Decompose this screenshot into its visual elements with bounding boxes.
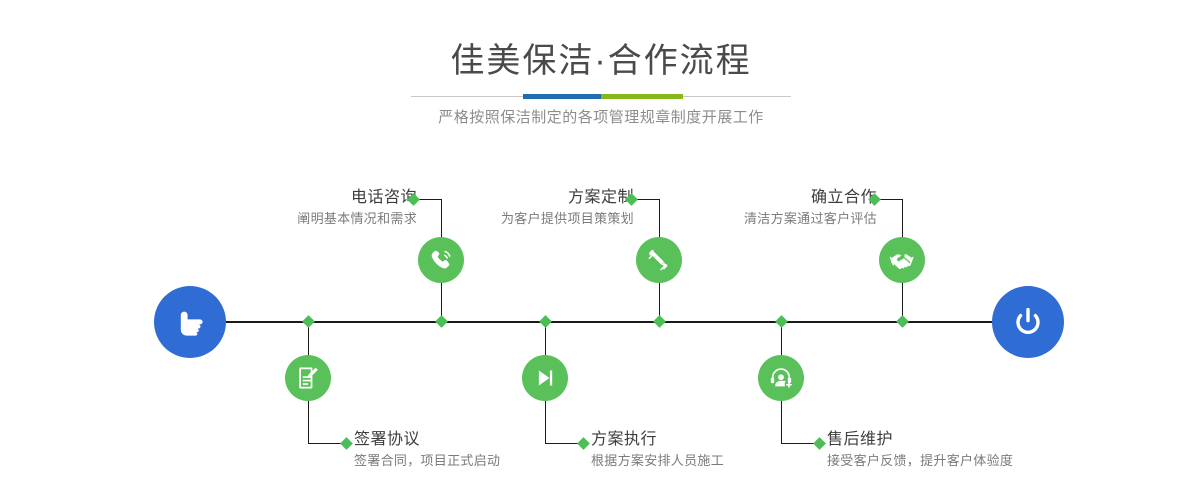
axis-marker-6 <box>896 315 909 328</box>
step-marker-bottom-2 <box>577 437 590 450</box>
step-node-bottom-2[interactable] <box>522 355 568 401</box>
step-title: 售后维护 <box>827 429 1013 451</box>
step-subtitle: 接受客户反馈，提升客户体验度 <box>827 451 1013 471</box>
play-next-icon <box>531 364 559 392</box>
page-title: 佳美保洁·合作流程 <box>0 38 1202 84</box>
sign-document-icon <box>294 364 322 392</box>
step-label-top-3: 确立合作 清洁方案通过客户评估 <box>744 187 877 229</box>
flow-end-node[interactable] <box>992 286 1064 358</box>
axis-marker-1 <box>302 315 315 328</box>
axis-marker-3 <box>539 315 552 328</box>
page-subtitle: 严格按照保洁制定的各项管理规章制度开展工作 <box>0 106 1202 130</box>
pencil-plan-icon <box>644 245 674 275</box>
step-subtitle: 阐明基本情况和需求 <box>297 209 417 229</box>
step-subtitle: 清洁方案通过客户评估 <box>744 209 877 229</box>
axis-marker-2 <box>435 315 448 328</box>
step-title: 方案定制 <box>501 187 634 209</box>
flow-start-node[interactable] <box>154 286 226 358</box>
step-label-top-2: 方案定制 为客户提供项目策策划 <box>501 187 634 229</box>
step-marker-bottom-1 <box>340 437 353 450</box>
step-label-bottom-2: 方案执行 根据方案安排人员施工 <box>591 429 724 471</box>
power-icon <box>1008 302 1048 342</box>
step-label-bottom-3: 售后维护 接受客户反馈，提升客户体验度 <box>827 429 1013 471</box>
step-marker-bottom-3 <box>813 437 826 450</box>
step-subtitle: 根据方案安排人员施工 <box>591 451 724 471</box>
step-title: 方案执行 <box>591 429 724 451</box>
axis-marker-4 <box>653 315 666 328</box>
divider-segment-blue <box>523 94 601 99</box>
step-label-top-1: 电话咨询 阐明基本情况和需求 <box>297 187 417 229</box>
step-title: 确立合作 <box>744 187 877 209</box>
customer-service-icon <box>767 364 795 392</box>
step-node-top-3[interactable] <box>879 237 925 283</box>
step-subtitle: 签署合同，项目正式启动 <box>354 451 500 471</box>
step-node-bottom-3[interactable] <box>758 355 804 401</box>
pointing-hand-icon <box>170 302 210 342</box>
step-node-top-1[interactable] <box>418 237 464 283</box>
phone-call-icon <box>426 245 456 275</box>
step-title: 签署协议 <box>354 429 500 451</box>
step-node-top-2[interactable] <box>636 237 682 283</box>
title-divider <box>411 94 791 99</box>
step-node-bottom-1[interactable] <box>285 355 331 401</box>
handshake-icon <box>887 245 917 275</box>
flow-diagram-page: 佳美保洁·合作流程 严格按照保洁制定的各项管理规章制度开展工作 电话咨询 阐明基… <box>0 0 1202 502</box>
axis-marker-5 <box>775 315 788 328</box>
step-title: 电话咨询 <box>297 187 417 209</box>
divider-segment-green <box>601 94 683 99</box>
step-subtitle: 为客户提供项目策策划 <box>501 209 634 229</box>
step-label-bottom-1: 签署协议 签署合同，项目正式启动 <box>354 429 500 471</box>
